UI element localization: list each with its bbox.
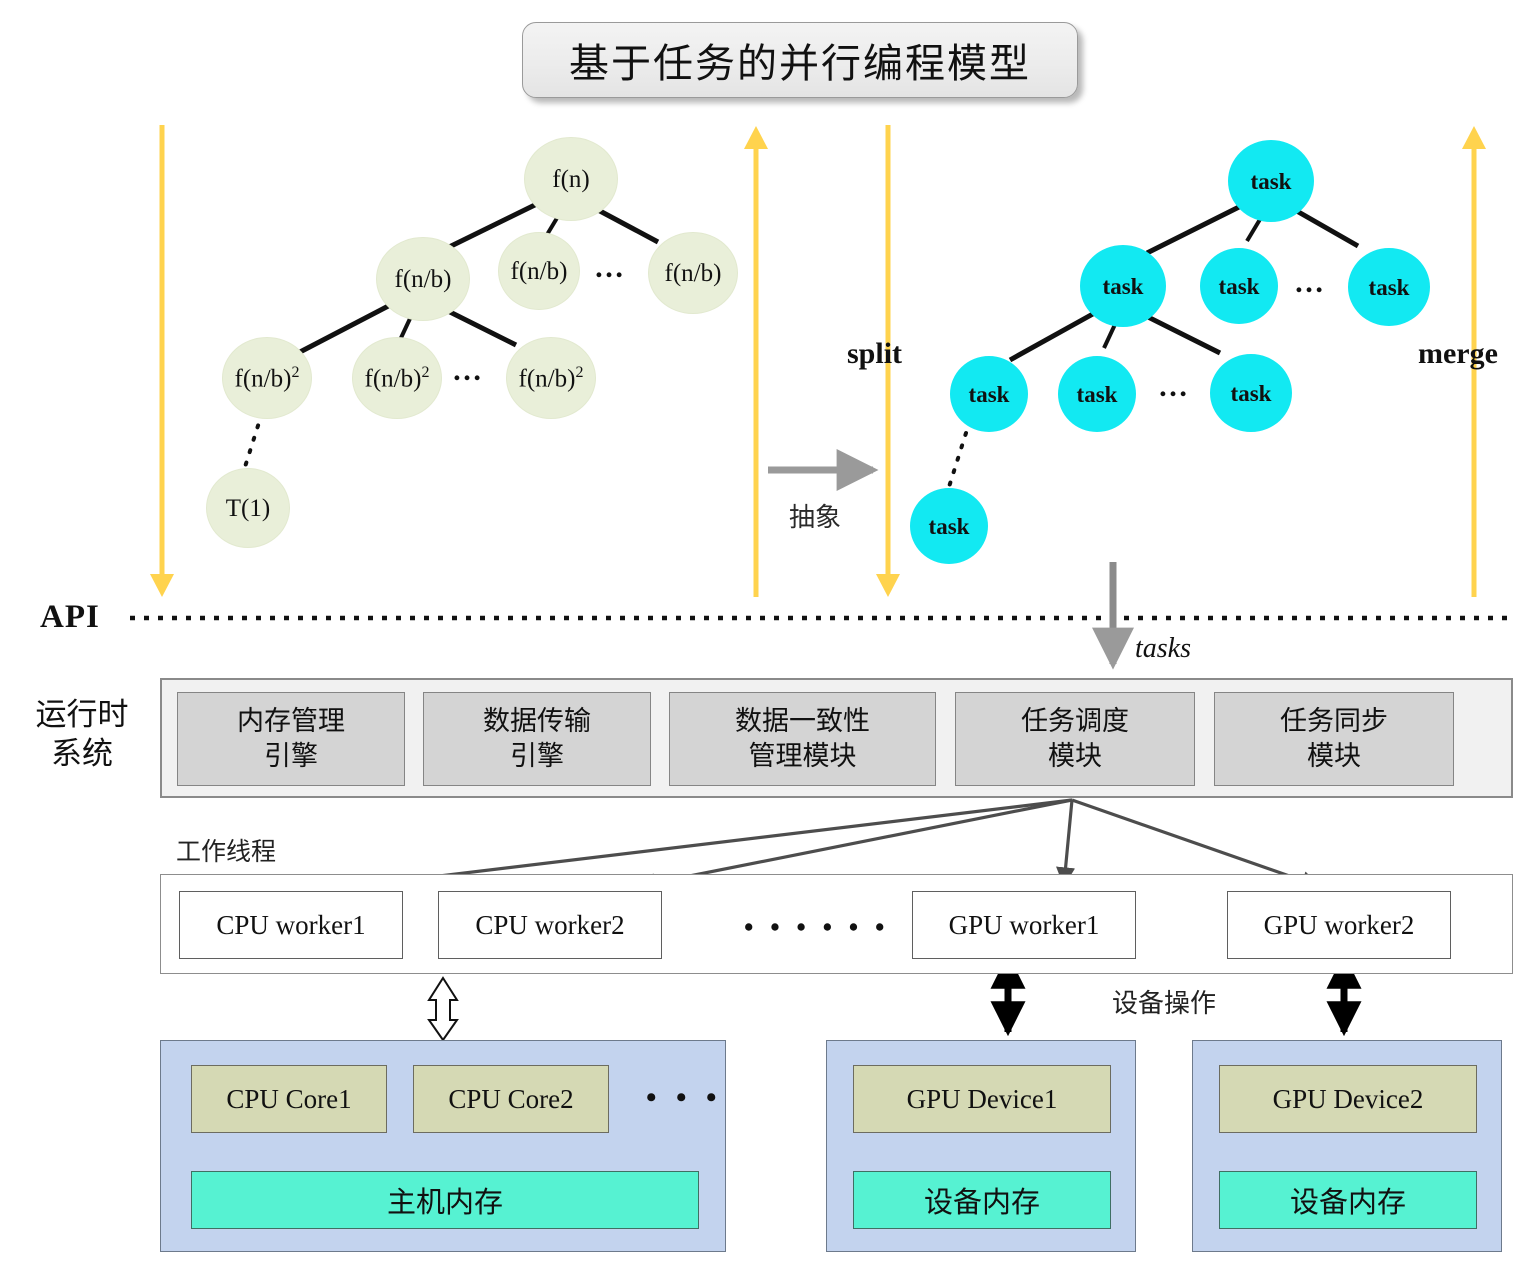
ellipsis-icon: … <box>1294 268 1328 298</box>
tree-node-label: f(n/b) <box>395 267 452 292</box>
tree-node-label: f(n/b)2 <box>365 365 430 391</box>
hardware-board-gpu-device2: GPU Device2 设备内存 <box>1192 1040 1502 1252</box>
task-node[interactable]: task <box>1210 354 1292 432</box>
hardware-device-memory-2[interactable]: 设备内存 <box>1219 1171 1477 1229</box>
module-label-line2: 模块 <box>1280 739 1388 774</box>
worker-gpu-worker2[interactable]: GPU worker2 <box>1227 891 1451 959</box>
worker-cpu-worker1[interactable]: CPU worker1 <box>179 891 403 959</box>
runtime-module-memory-management-engine[interactable]: 内存管理 引擎 <box>177 692 405 786</box>
task-node-label: task <box>1251 170 1292 193</box>
hardware-memory-label: 主机内存 <box>387 1179 503 1221</box>
merge-label: merge <box>1418 337 1498 371</box>
task-node-label: task <box>969 383 1010 406</box>
worker-label: GPU worker2 <box>1264 910 1415 941</box>
runtime-system-label-line2: 系统 <box>12 735 152 774</box>
hardware-core-label: GPU Device1 <box>907 1084 1058 1115</box>
task-node[interactable]: task <box>1080 245 1166 327</box>
task-node[interactable]: task <box>910 488 988 564</box>
worker-label: GPU worker1 <box>949 910 1100 941</box>
tree-node[interactable]: T(1) <box>206 468 290 548</box>
tree-node-label: f(n/b)2 <box>235 365 300 391</box>
runtime-module-data-consistency-module[interactable]: 数据一致性 管理模块 <box>669 692 936 786</box>
runtime-module-task-synchronization-module[interactable]: 任务同步 模块 <box>1214 692 1454 786</box>
tree-node-label: f(n/b)2 <box>519 365 584 391</box>
api-label: API <box>40 599 100 636</box>
device-operation-label: 设备操作 <box>1112 983 1216 1020</box>
task-node-label: task <box>1369 276 1410 299</box>
hardware-core-label: CPU Core2 <box>448 1084 573 1115</box>
task-tree-edges <box>948 203 1358 490</box>
worker-ellipsis-icon: • • • • • • <box>744 912 889 943</box>
tree-node-label: f(n/b) <box>511 259 568 284</box>
diagram-title-box: 基于任务的并行编程模型 <box>522 22 1078 98</box>
tree-node[interactable]: f(n/b)2 <box>506 337 596 419</box>
task-node[interactable]: task <box>1348 248 1430 326</box>
hardware-device-memory-1[interactable]: 设备内存 <box>853 1171 1111 1229</box>
tree-node[interactable]: f(n) <box>524 137 618 221</box>
hardware-memory-label: 设备内存 <box>924 1179 1040 1221</box>
cpu-core-ellipsis-icon: • • • <box>646 1081 723 1115</box>
module-label-line2: 模块 <box>1021 739 1129 774</box>
ellipsis-icon: … <box>452 356 486 386</box>
hardware-core-label: CPU Core1 <box>226 1084 351 1115</box>
worker-label: CPU worker2 <box>475 910 624 941</box>
cpu-device-bidirectional-arrow <box>429 978 457 1040</box>
runtime-system-panel: 内存管理 引擎 数据传输 引擎 数据一致性 管理模块 任务调度 模块 任务同步 <box>160 678 1513 798</box>
module-label-line1: 数据一致性 <box>735 704 870 739</box>
module-label-line2: 引擎 <box>483 739 591 774</box>
tasks-label: tasks <box>1135 633 1191 665</box>
task-node[interactable]: task <box>1200 248 1278 324</box>
task-node-label: task <box>1231 382 1272 405</box>
task-node[interactable]: task <box>950 356 1028 432</box>
hardware-cpu-core1[interactable]: CPU Core1 <box>191 1065 387 1133</box>
hardware-core-label: GPU Device2 <box>1273 1084 1424 1115</box>
tree-node-label: T(1) <box>226 496 270 521</box>
tree-node-label: f(n/b) <box>665 261 722 286</box>
function-tree-edges <box>244 200 658 470</box>
worker-label: CPU worker1 <box>216 910 365 941</box>
task-node[interactable]: task <box>1058 356 1136 432</box>
module-label-line1: 任务调度 <box>1021 704 1129 739</box>
tree-node-label: f(n) <box>552 167 589 192</box>
tree-node[interactable]: f(n/b) <box>376 237 470 321</box>
runtime-module-task-scheduling-module[interactable]: 任务调度 模块 <box>955 692 1195 786</box>
tree-node[interactable]: f(n/b)2 <box>352 337 442 419</box>
module-label-line1: 数据传输 <box>483 704 591 739</box>
hardware-gpu-device1[interactable]: GPU Device1 <box>853 1065 1111 1133</box>
module-label-line2: 管理模块 <box>735 739 870 774</box>
task-node[interactable]: task <box>1228 140 1314 222</box>
worker-thread-panel: CPU worker1 CPU worker2 • • • • • • GPU … <box>160 874 1513 974</box>
runtime-system-label: 运行时 系统 <box>12 696 152 774</box>
hardware-board-gpu-device1: GPU Device1 设备内存 <box>826 1040 1136 1252</box>
hardware-board-cpu-host: CPU Core1 CPU Core2 • • • 主机内存 <box>160 1040 726 1252</box>
page-title: 基于任务的并行编程模型 <box>569 31 1031 89</box>
tree-node[interactable]: f(n/b) <box>498 232 580 310</box>
task-node-label: task <box>1077 383 1118 406</box>
ellipsis-icon: … <box>1158 372 1192 402</box>
hardware-gpu-device2[interactable]: GPU Device2 <box>1219 1065 1477 1133</box>
hardware-cpu-core2[interactable]: CPU Core2 <box>413 1065 609 1133</box>
diagram-canvas: 基于任务的并行编程模型 <box>0 0 1533 1262</box>
worker-cpu-worker2[interactable]: CPU worker2 <box>438 891 662 959</box>
module-label-line1: 任务同步 <box>1280 704 1388 739</box>
abstraction-label: 抽象 <box>789 497 841 534</box>
split-label: split <box>847 337 902 371</box>
runtime-system-label-line1: 运行时 <box>12 696 152 735</box>
ellipsis-icon: … <box>594 253 628 283</box>
tree-node[interactable]: f(n/b) <box>648 232 738 314</box>
worker-gpu-worker1[interactable]: GPU worker1 <box>912 891 1136 959</box>
module-label-line2: 引擎 <box>237 739 345 774</box>
hardware-host-memory[interactable]: 主机内存 <box>191 1171 699 1229</box>
tree-node[interactable]: f(n/b)2 <box>222 337 312 419</box>
runtime-module-data-transfer-engine[interactable]: 数据传输 引擎 <box>423 692 651 786</box>
task-node-label: task <box>929 515 970 538</box>
task-node-label: task <box>1219 275 1260 298</box>
worker-threads-label: 工作线程 <box>176 832 276 868</box>
task-node-label: task <box>1103 275 1144 298</box>
hardware-memory-label: 设备内存 <box>1290 1179 1406 1221</box>
module-label-line1: 内存管理 <box>237 704 345 739</box>
